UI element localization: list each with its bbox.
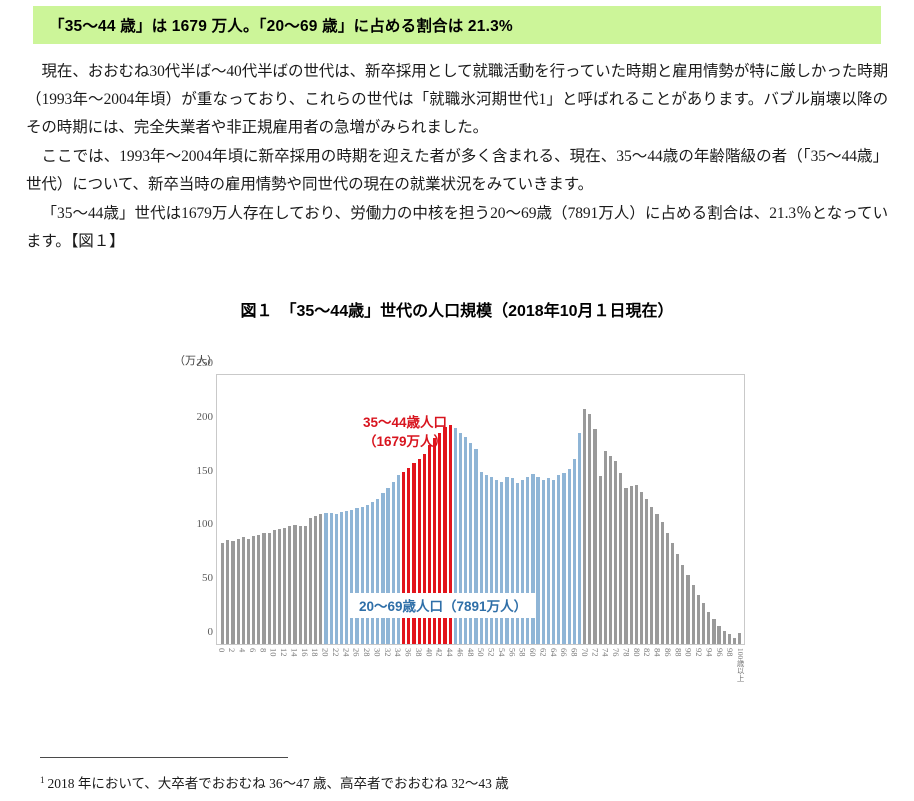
bar-age-85 bbox=[661, 522, 664, 644]
bar-age-59 bbox=[526, 477, 529, 644]
bar-age-31 bbox=[381, 493, 384, 644]
header-banner-text: 「35〜44 歳」は 1679 万人。「20〜69 歳」に占める割合は 21.3… bbox=[33, 14, 513, 36]
annotation-red-line-1: 35〜44歳人口 bbox=[330, 413, 480, 432]
bar-age-8 bbox=[262, 533, 265, 644]
bar-age-57 bbox=[516, 483, 519, 644]
bar-age-16 bbox=[304, 526, 307, 644]
bar-age-95 bbox=[712, 619, 715, 644]
bar-age-87 bbox=[671, 543, 674, 644]
bar-age-83 bbox=[650, 507, 653, 644]
footnote-divider bbox=[40, 757, 288, 758]
y-tick-0: 0 bbox=[208, 626, 214, 638]
bar-age-74 bbox=[604, 451, 607, 644]
paragraph-2: ここでは、1993年〜2004年頃に新卒採用の時期を迎えた者が多く含まれる、現在… bbox=[26, 143, 888, 199]
bar-age-91 bbox=[692, 585, 695, 644]
bar-age-3 bbox=[237, 539, 240, 644]
annotation-red-cohort: 35〜44歳人口 （1679万人） bbox=[330, 413, 480, 451]
bar-age-23 bbox=[340, 512, 343, 644]
bar-age-100歳以上 bbox=[738, 633, 741, 644]
bar-age-96 bbox=[717, 626, 720, 644]
bar-age-29 bbox=[371, 502, 374, 644]
bar-age-25 bbox=[350, 510, 353, 645]
population-bar-chart: （万人） 050100150200250 0246810121416182022… bbox=[168, 352, 748, 697]
bar-slot-age-100歳以上 bbox=[737, 375, 742, 644]
bar-age-11 bbox=[278, 529, 281, 644]
bar-age-4 bbox=[242, 537, 245, 644]
bar-age-60 bbox=[531, 474, 534, 644]
footnote: 12018 年において、大卒者でおおむね 36〜47 歳、高卒者でおおむね 32… bbox=[40, 772, 509, 792]
y-tick-250: 250 bbox=[197, 357, 214, 369]
bar-age-17 bbox=[309, 518, 312, 644]
bar-age-55 bbox=[505, 477, 508, 644]
bar-age-65 bbox=[557, 475, 560, 644]
annotation-red-line-2: （1679万人） bbox=[330, 432, 480, 451]
bar-age-78 bbox=[624, 488, 627, 644]
bar-age-73 bbox=[599, 476, 602, 644]
bar-age-98 bbox=[728, 634, 731, 644]
bar-age-2 bbox=[231, 541, 234, 644]
bar-age-77 bbox=[619, 473, 622, 644]
bar-age-66 bbox=[562, 473, 565, 644]
bar-age-28 bbox=[366, 505, 369, 644]
bar-age-58 bbox=[521, 480, 524, 644]
bar-age-71 bbox=[588, 414, 591, 644]
body-text-block: 現在、おおむね30代半ば〜40代半ばの世代は、新卒採用として就職活動を行っていた… bbox=[26, 58, 888, 257]
annotation-blue-cohort: 20〜69歳人口（7891万人） bbox=[350, 593, 536, 618]
footnote-marker: 1 bbox=[40, 775, 45, 785]
y-tick-200: 200 bbox=[197, 411, 214, 423]
document-page: 「35〜44 歳」は 1679 万人。「20〜69 歳」に占める割合は 21.3… bbox=[0, 0, 914, 801]
bar-age-81 bbox=[640, 492, 643, 644]
bar-age-22 bbox=[335, 514, 338, 644]
bar-age-56 bbox=[511, 478, 514, 644]
bar-age-69 bbox=[578, 433, 581, 644]
bar-age-97 bbox=[723, 631, 726, 644]
bar-age-80 bbox=[635, 485, 638, 644]
bar-age-86 bbox=[666, 533, 669, 644]
y-tick-100: 100 bbox=[197, 518, 214, 530]
header-banner: 「35〜44 歳」は 1679 万人。「20〜69 歳」に占める割合は 21.3… bbox=[33, 6, 881, 44]
bar-age-24 bbox=[345, 511, 348, 644]
bar-age-27 bbox=[361, 507, 364, 644]
bar-age-32 bbox=[386, 488, 389, 644]
x-axis-labels: 0246810121416182022242628303234363840424… bbox=[219, 646, 743, 686]
bar-age-9 bbox=[268, 533, 271, 644]
bar-age-19 bbox=[319, 514, 322, 644]
bar-age-7 bbox=[257, 535, 260, 644]
bar-age-6 bbox=[252, 536, 255, 644]
bar-age-52 bbox=[490, 477, 493, 644]
bar-age-88 bbox=[676, 554, 679, 644]
bar-age-93 bbox=[702, 603, 705, 644]
bar-age-21 bbox=[330, 513, 333, 644]
bar-age-10 bbox=[273, 530, 276, 644]
bar-age-68 bbox=[573, 459, 576, 644]
bar-age-75 bbox=[609, 456, 612, 644]
bar-age-15 bbox=[299, 526, 302, 644]
paragraph-1: 現在、おおむね30代半ば〜40代半ばの世代は、新卒採用として就職活動を行っていた… bbox=[26, 58, 888, 142]
footnote-text: 2018 年において、大卒者でおおむね 36〜47 歳、高卒者でおおむね 32〜… bbox=[48, 776, 509, 791]
x-label-slot-100歳以上: 100歳以上 bbox=[738, 646, 743, 686]
bar-age-34 bbox=[397, 475, 400, 644]
bar-age-84 bbox=[655, 514, 658, 644]
bar-age-18 bbox=[314, 516, 317, 644]
bar-age-76 bbox=[614, 461, 617, 644]
bar-age-13 bbox=[288, 526, 291, 644]
x-tick-label-100歳以上: 100歳以上 bbox=[737, 648, 745, 682]
bar-age-63 bbox=[547, 478, 550, 644]
bar-age-1 bbox=[226, 540, 229, 644]
bar-age-20 bbox=[324, 513, 327, 644]
bar-age-70 bbox=[583, 409, 586, 644]
bar-age-62 bbox=[542, 480, 545, 644]
bar-age-33 bbox=[392, 482, 395, 644]
bar-age-94 bbox=[707, 612, 710, 644]
figure-title: 図１ 「35〜44歳」世代の人口規模（2018年10月１日現在） bbox=[0, 297, 914, 321]
bar-age-12 bbox=[283, 528, 286, 644]
y-tick-150: 150 bbox=[197, 465, 214, 477]
bar-age-90 bbox=[686, 575, 689, 644]
y-tick-50: 50 bbox=[202, 572, 213, 584]
bar-age-72 bbox=[593, 429, 596, 644]
bar-age-35 bbox=[402, 472, 405, 644]
bar-age-89 bbox=[681, 565, 684, 644]
paragraph-3: 「35〜44歳」世代は1679万人存在しており、労働力の中核を担う20〜69歳（… bbox=[26, 200, 888, 256]
bar-age-82 bbox=[645, 499, 648, 644]
bar-age-51 bbox=[485, 475, 488, 644]
bar-age-54 bbox=[500, 482, 503, 644]
bar-age-79 bbox=[630, 486, 633, 644]
bar-age-0 bbox=[221, 543, 224, 644]
bar-age-99 bbox=[733, 638, 736, 644]
bar-age-26 bbox=[355, 508, 358, 644]
bar-age-67 bbox=[568, 469, 571, 644]
bar-age-5 bbox=[247, 539, 250, 644]
bar-age-92 bbox=[697, 595, 700, 644]
bar-age-61 bbox=[536, 477, 539, 644]
bar-age-53 bbox=[495, 480, 498, 644]
bar-age-30 bbox=[376, 499, 379, 644]
bar-age-64 bbox=[552, 480, 555, 644]
bar-age-14 bbox=[293, 525, 296, 644]
bar-age-50 bbox=[480, 472, 483, 644]
